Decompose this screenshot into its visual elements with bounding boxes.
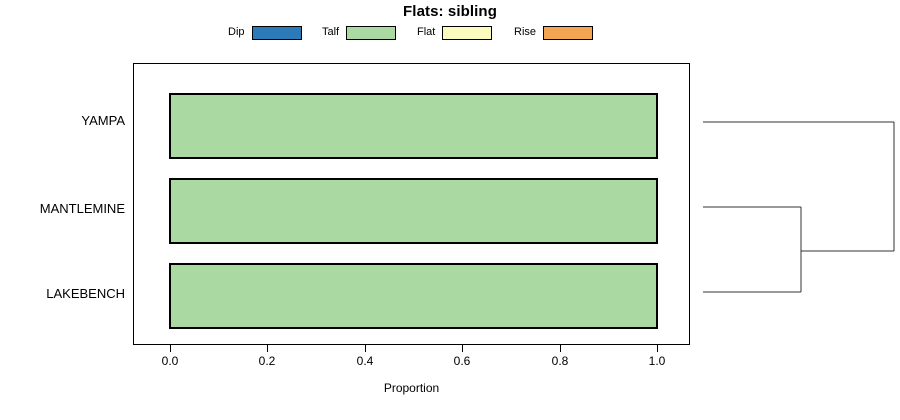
legend-swatch-dip xyxy=(252,26,302,40)
bar-mantlemine-talf[interactable] xyxy=(169,178,658,244)
legend-item-flat[interactable]: Flat xyxy=(417,24,492,41)
x-tick-5 xyxy=(657,345,658,352)
legend-swatch-rise xyxy=(543,26,593,40)
category-label-mantlemine: MANTLEMINE xyxy=(0,201,125,216)
legend-item-rise[interactable]: Rise xyxy=(514,24,593,41)
category-label-lakebench: LAKEBENCH xyxy=(0,286,125,301)
legend-item-dip[interactable]: Dip xyxy=(228,24,302,41)
x-tick-3 xyxy=(462,345,463,352)
category-label-yampa: YAMPA xyxy=(0,113,125,128)
dendrogram xyxy=(700,63,900,345)
dendrogram-svg xyxy=(700,63,900,345)
legend-swatch-flat xyxy=(442,26,492,40)
legend-label-dip: Dip xyxy=(228,24,245,41)
legend-swatch-talf xyxy=(346,26,396,40)
x-tick-label-2: 0.4 xyxy=(343,354,387,368)
bar-lakebench-talf[interactable] xyxy=(169,263,658,329)
legend-label-talf: Talf xyxy=(322,24,339,41)
x-axis-title: Proportion xyxy=(133,381,690,395)
chart-canvas: Flats: sibling Dip Talf Flat Rise YAMPA … xyxy=(0,0,900,420)
legend-item-talf[interactable]: Talf xyxy=(322,24,396,41)
x-tick-4 xyxy=(560,345,561,352)
x-tick-label-0: 0.0 xyxy=(148,354,192,368)
x-tick-label-4: 0.8 xyxy=(538,354,582,368)
bar-yampa-talf[interactable] xyxy=(169,93,658,159)
plot-panel xyxy=(133,63,690,345)
x-tick-2 xyxy=(365,345,366,352)
x-tick-label-1: 0.2 xyxy=(245,354,289,368)
legend: Dip Talf Flat Rise xyxy=(228,24,598,41)
x-tick-label-5: 1.0 xyxy=(635,354,679,368)
x-tick-0 xyxy=(170,345,171,352)
page-title: Flats: sibling xyxy=(0,3,900,20)
x-tick-1 xyxy=(267,345,268,352)
legend-label-rise: Rise xyxy=(514,24,536,41)
x-tick-label-3: 0.6 xyxy=(440,354,484,368)
x-axis: 0.0 0.2 0.4 0.6 0.8 1.0 xyxy=(133,345,690,346)
legend-label-flat: Flat xyxy=(417,24,435,41)
